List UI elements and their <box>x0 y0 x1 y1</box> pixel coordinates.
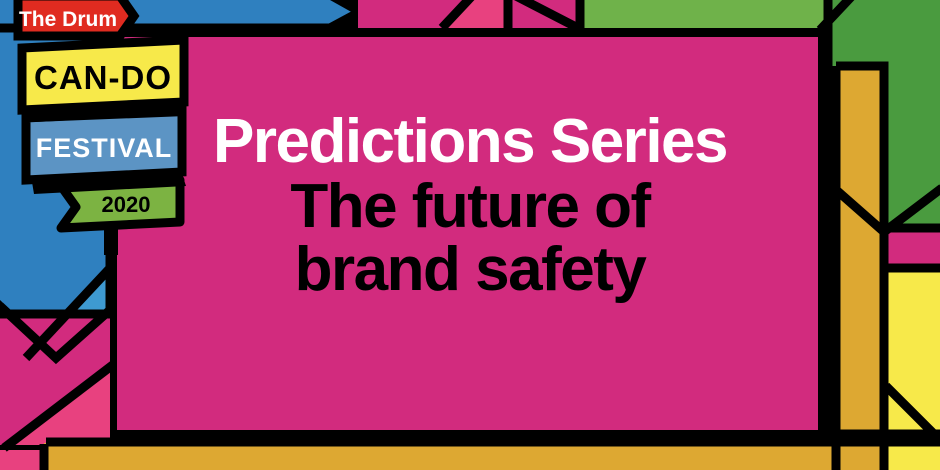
festival-promo-graphic: Predictions Series The future of brand s… <box>0 0 940 470</box>
ribbon-label-2020: 2020 <box>102 192 151 217</box>
shape-pink-bottom-left-chip <box>0 450 44 470</box>
logo-ribbon-can-do: CAN-DO <box>22 40 186 122</box>
ribbon-label-festival: FESTIVAL <box>36 133 173 163</box>
festival-logo[interactable]: 2020 FESTIVAL CAN-DO The Drum <box>4 0 204 240</box>
logo-ribbon-festival: FESTIVAL <box>26 110 186 194</box>
festival-logo-artwork: 2020 FESTIVAL CAN-DO The Drum <box>4 0 204 245</box>
hero-card <box>110 30 825 437</box>
shape-green-top-band <box>582 0 850 28</box>
logo-ribbon-the-drum: The Drum <box>18 0 134 36</box>
ribbon-label-the-drum: The Drum <box>19 8 117 31</box>
ribbon-label-can-do: CAN-DO <box>34 59 172 96</box>
shape-pink-bottom-right-chip <box>888 230 940 264</box>
shape-gold-right-column <box>838 68 882 470</box>
